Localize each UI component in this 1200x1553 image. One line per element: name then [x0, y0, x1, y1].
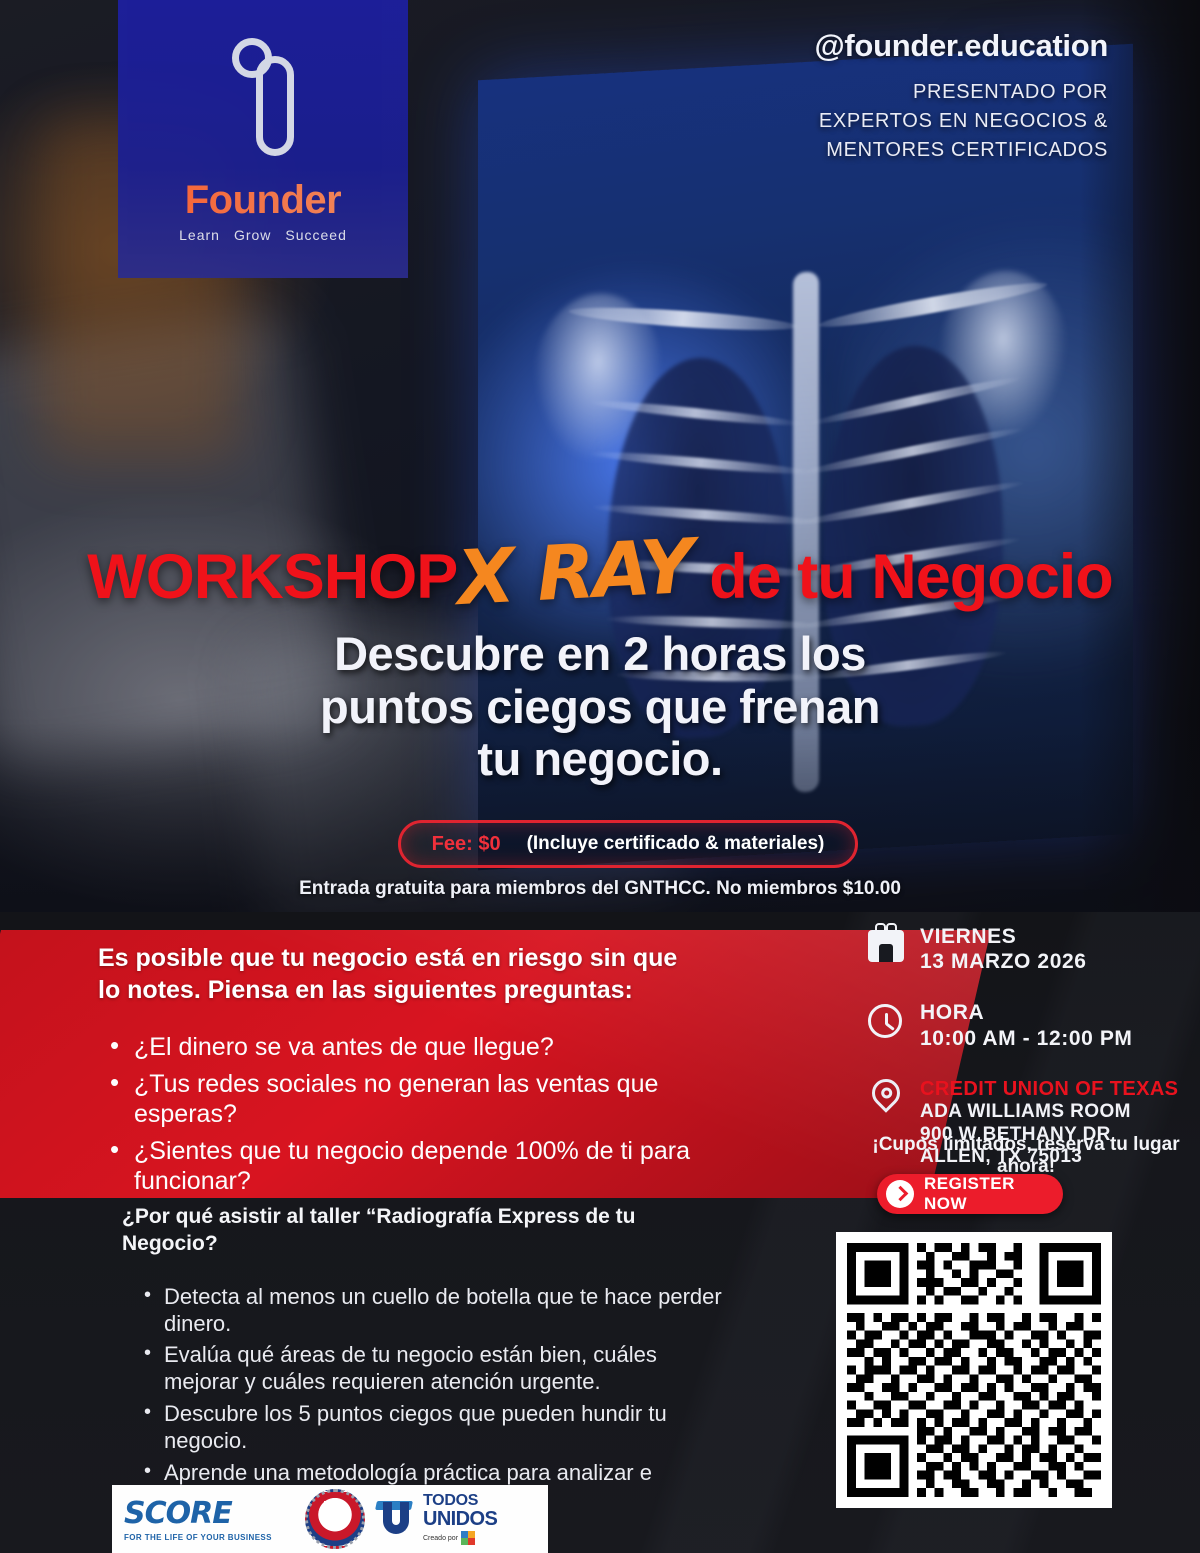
sponsor-bar: SCORE FOR THE LIFE OF YOUR BUSINESS TODO…: [112, 1485, 548, 1553]
questions-title: Es posible que tu negocio está en riesgo…: [98, 942, 698, 1006]
arrow-right-icon: [886, 1180, 914, 1208]
todos-unidos-logo: TODOS UNIDOS Creado por: [372, 1493, 548, 1545]
creado-por-block: Creado por: [423, 1531, 497, 1545]
microsoft-squares-icon: [461, 1531, 475, 1545]
chamber-of-commerce-seal-icon: [298, 1487, 372, 1551]
founder-wordmark: Founder: [185, 178, 341, 223]
venue-name: CREDIT UNION OF TEXAS: [920, 1077, 1178, 1101]
why-attend-list: Detecta al menos un cuello de botella qu…: [122, 1284, 732, 1514]
title-xray: X RAY: [455, 522, 695, 622]
title-workshop: WORKSHOP: [87, 542, 457, 612]
page-title: WORKSHOPX RAY de tu Negocio: [0, 528, 1200, 616]
event-date-label: VIERNES: [920, 924, 1087, 949]
map-pin-icon: [866, 1079, 906, 1119]
instagram-handle: @founder.education: [814, 28, 1108, 64]
presented-line-1: PRESENTADO POR: [819, 78, 1108, 107]
subhead-line-3: tu negocio.: [0, 733, 1200, 786]
register-now-button[interactable]: REGISTER NOW: [877, 1174, 1063, 1214]
event-time-label: HORA: [920, 1000, 1133, 1025]
score-wordmark: SCORE: [124, 1496, 298, 1531]
fee-note: Entrada gratuita para miembros del GNTHC…: [0, 878, 1200, 900]
tagline-word-succeed: Succeed: [285, 227, 346, 243]
clock-icon: [866, 1002, 906, 1042]
todos-unidos-line-1: TODOS: [423, 1493, 497, 1509]
why-attend-panel: ¿Por qué asistir al taller “Radiografía …: [122, 1204, 732, 1518]
tagline-word-grow: Grow: [234, 227, 271, 243]
list-item: Evalúa qué áreas de tu negocio están bie…: [122, 1342, 732, 1396]
event-date-row: VIERNES 13 MARZO 2026: [866, 924, 1186, 974]
score-logo: SCORE FOR THE LIFE OF YOUR BUSINESS: [112, 1496, 298, 1542]
list-item: Detecta al menos un cuello de botella qu…: [122, 1284, 732, 1338]
why-attend-title: ¿Por qué asistir al taller “Radiografía …: [122, 1204, 732, 1258]
qr-code-svg: [847, 1243, 1101, 1497]
founder-mark-icon: [232, 38, 294, 156]
fee-includes: (Incluye certificado & materiales): [527, 833, 825, 855]
qr-code[interactable]: [836, 1232, 1112, 1508]
list-item: Descubre los 5 puntos ciegos que pueden …: [122, 1401, 732, 1455]
todos-unidos-mark-icon: [372, 1496, 418, 1542]
address-line-1: ADA WILLIAMS ROOM: [920, 1101, 1178, 1124]
founder-tagline: Learn Grow Succeed: [179, 227, 347, 243]
fee-badge: Fee: $0 (Incluye certificado & materiale…: [398, 820, 858, 868]
creado-por-label: Creado por: [423, 1535, 458, 1542]
tagline-word-learn: Learn: [179, 227, 220, 243]
subhead-line-2: puntos ciegos que frenan: [0, 681, 1200, 734]
list-item: ¿El dinero se va antes de que llegue?: [98, 1032, 698, 1062]
register-now-label: REGISTER NOW: [924, 1174, 1063, 1214]
fee-amount: Fee: $0: [432, 833, 501, 856]
presented-by-block: PRESENTADO POR EXPERTOS EN NEGOCIOS & ME…: [819, 78, 1108, 165]
event-time-row: HORA 10:00 AM - 12:00 PM: [866, 1000, 1186, 1050]
hero-subheadline: Descubre en 2 horas los puntos ciegos qu…: [0, 628, 1200, 786]
event-date-value: 13 MARZO 2026: [920, 949, 1087, 974]
founder-logo-card: Founder Learn Grow Succeed: [118, 0, 408, 278]
questions-panel: Es posible que tu negocio está en riesgo…: [98, 942, 698, 1203]
todos-unidos-line-2: UNIDOS: [423, 1509, 497, 1529]
questions-list: ¿El dinero se va antes de que llegue? ¿T…: [98, 1032, 698, 1196]
title-suffix: de tu Negocio: [693, 542, 1113, 612]
score-tagline: FOR THE LIFE OF YOUR BUSINESS: [124, 1533, 298, 1542]
limited-seats-note: ¡Cupos limitados, reserva tu lugar ahora…: [866, 1134, 1186, 1178]
list-item: ¿Sientes que tu negocio depende 100% de …: [98, 1136, 698, 1196]
event-time-value: 10:00 AM - 12:00 PM: [920, 1026, 1133, 1051]
presented-line-2: EXPERTOS EN NEGOCIOS &: [819, 107, 1108, 136]
presented-line-3: MENTORES CERTIFICADOS: [819, 136, 1108, 165]
calendar-icon: [866, 926, 906, 966]
subhead-line-1: Descubre en 2 horas los: [0, 628, 1200, 681]
list-item: ¿Tus redes sociales no generan las venta…: [98, 1069, 698, 1129]
hero-section: Founder Learn Grow Succeed @founder.educ…: [0, 0, 1200, 912]
